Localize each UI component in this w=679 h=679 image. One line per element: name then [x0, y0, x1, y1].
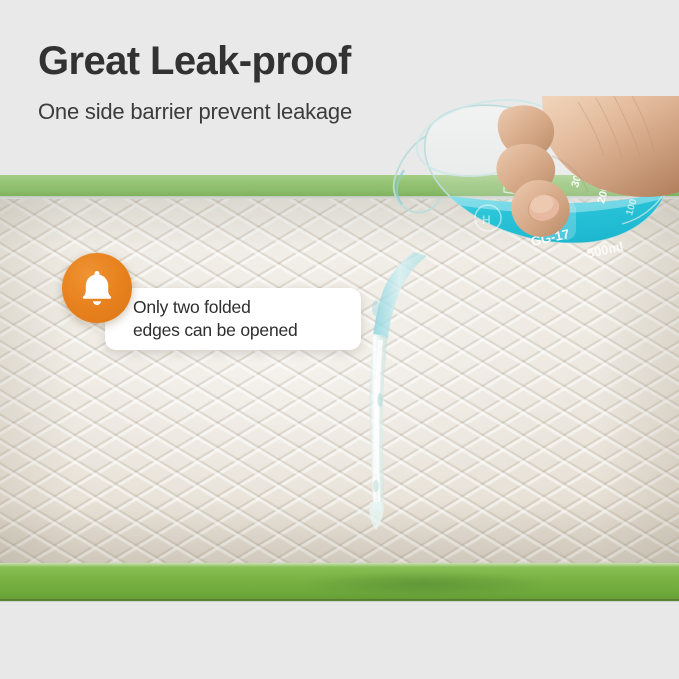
bell-icon: [79, 269, 115, 307]
page-subtitle: One side barrier prevent leakage: [38, 99, 352, 125]
stream-droplet: [373, 480, 379, 492]
callout-text-line2: edges can be opened: [133, 319, 358, 342]
mat-edge-bottom-wet-shadow: [300, 573, 550, 597]
mat-edge-bottom-highlight: [0, 563, 679, 567]
stream-tip: [369, 502, 383, 530]
beaker-and-hand: 500 APPROX 300 200 100 GG-17 500ml: [392, 96, 679, 311]
svg-text:H: H: [482, 213, 491, 227]
product-feature-image: Great Leak-proof One side barrier preven…: [0, 0, 679, 679]
stream-droplet: [378, 393, 383, 407]
mat-edge-bottom-shadow: [0, 599, 679, 602]
beaker-rim-accent: [397, 170, 404, 204]
page-title: Great Leak-proof: [38, 41, 351, 81]
callout-badge: [62, 253, 132, 323]
stream-droplet: [372, 300, 380, 316]
callout-text-line1: Only two folded: [133, 296, 358, 319]
callout-text: Only two folded edges can be opened: [133, 296, 358, 342]
